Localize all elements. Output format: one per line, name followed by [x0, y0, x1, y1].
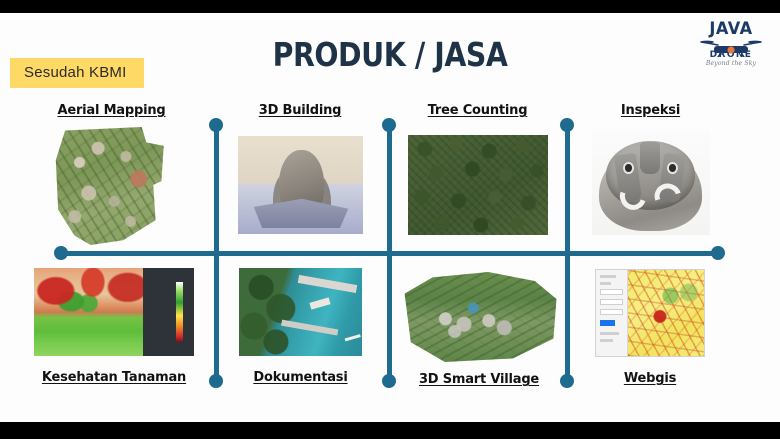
- status-badge-sesudah-kbmi: Sesudah KBMI: [10, 58, 144, 88]
- webgis-map-area: [628, 270, 704, 356]
- logo-tagline: Beyond the Sky: [690, 60, 772, 68]
- item-label: Inspeksi: [578, 103, 723, 118]
- logo-drone-row: DRONE: [690, 39, 772, 60]
- item-aerial-mapping[interactable]: Aerial Mapping: [24, 103, 199, 245]
- timeline-dot-bottom-1: [209, 374, 223, 388]
- timeline-dot-top-2: [382, 118, 396, 132]
- webgis-side-panel: [596, 270, 628, 356]
- item-thumbnail[interactable]: [238, 136, 363, 234]
- webgis-panel-line: [600, 339, 613, 342]
- 3d-building-image: [238, 136, 363, 234]
- kesehatan-tanaman-image: [34, 268, 194, 356]
- timeline-dot-top-1: [209, 118, 223, 132]
- item-thumbnail[interactable]: [408, 135, 548, 235]
- item-label: Dokumentasi: [228, 370, 373, 385]
- webgis-panel-line: [600, 282, 611, 285]
- item-thumbnail[interactable]: [402, 272, 557, 362]
- item-thumbnail[interactable]: [239, 268, 362, 356]
- item-kesehatan-tanaman[interactable]: Kesehatan Tanaman: [24, 268, 204, 385]
- timeline-dot-bottom-3: [560, 374, 574, 388]
- ndvi-color-scale: [176, 282, 183, 342]
- item-label: 3D Building: [225, 103, 375, 118]
- inspeksi-image: [592, 131, 710, 235]
- item-thumbnail[interactable]: [34, 268, 194, 356]
- webgis-image: [595, 269, 705, 357]
- item-dokumentasi[interactable]: Dokumentasi: [228, 268, 373, 385]
- item-3d-building[interactable]: 3D Building: [225, 103, 375, 234]
- inspeksi-part-hole-right: [667, 162, 678, 173]
- presentation-slide: Sesudah KBMI PRODUK / JASA JAVA DRONE Be…: [0, 0, 780, 439]
- letterbox-bottom-bar: [0, 422, 780, 439]
- timeline-dot-right-end: [711, 246, 725, 260]
- item-tree-counting[interactable]: Tree Counting: [400, 103, 555, 235]
- webgis-panel-button: [600, 320, 615, 326]
- item-webgis[interactable]: Webgis: [575, 268, 725, 386]
- webgis-panel-line: [600, 332, 619, 335]
- item-label: Kesehatan Tanaman: [24, 370, 204, 385]
- item-label: Webgis: [575, 371, 725, 386]
- webgis-panel-input: [600, 289, 623, 295]
- item-thumbnail[interactable]: [592, 131, 710, 235]
- logo-brand-text: JAVA: [692, 21, 770, 38]
- timeline-vertical-line-2: [387, 124, 392, 382]
- item-3d-smart-village[interactable]: 3D Smart Village: [398, 268, 560, 387]
- timeline-dot-top-3: [560, 118, 574, 132]
- item-inspeksi[interactable]: Inspeksi: [578, 103, 723, 235]
- item-thumbnail[interactable]: [595, 269, 705, 357]
- item-label: Aerial Mapping: [24, 103, 199, 118]
- aerial-mapping-image: [54, 127, 170, 245]
- webgis-panel-input: [600, 309, 623, 315]
- item-label: Tree Counting: [400, 103, 555, 118]
- dokumentasi-image: [239, 268, 362, 356]
- page-title: PRODUK / JASA: [55, 35, 726, 74]
- java-drone-logo: JAVA DRONE Beyond the Sky: [690, 21, 772, 83]
- item-thumbnail[interactable]: [54, 127, 170, 245]
- inspeksi-part-hole-left: [623, 162, 634, 173]
- timeline-dot-left-end: [54, 246, 68, 260]
- webgis-panel-line: [600, 275, 616, 278]
- tree-counting-image: [408, 135, 548, 235]
- inspeksi-part-jaw-center: [640, 142, 660, 173]
- timeline-vertical-line-1: [214, 124, 219, 382]
- 3d-smart-village-image: [402, 272, 557, 362]
- timeline-vertical-line-3: [565, 124, 570, 382]
- letterbox-top-bar: [0, 0, 780, 13]
- ndvi-legend-panel: [143, 268, 194, 356]
- drone-icon: [700, 37, 762, 57]
- ndvi-map-area: [34, 268, 143, 356]
- webgis-panel-input: [600, 299, 623, 305]
- item-label: 3D Smart Village: [398, 372, 560, 387]
- timeline-dot-bottom-2: [382, 374, 396, 388]
- slide-canvas: Sesudah KBMI PRODUK / JASA JAVA DRONE Be…: [0, 13, 780, 422]
